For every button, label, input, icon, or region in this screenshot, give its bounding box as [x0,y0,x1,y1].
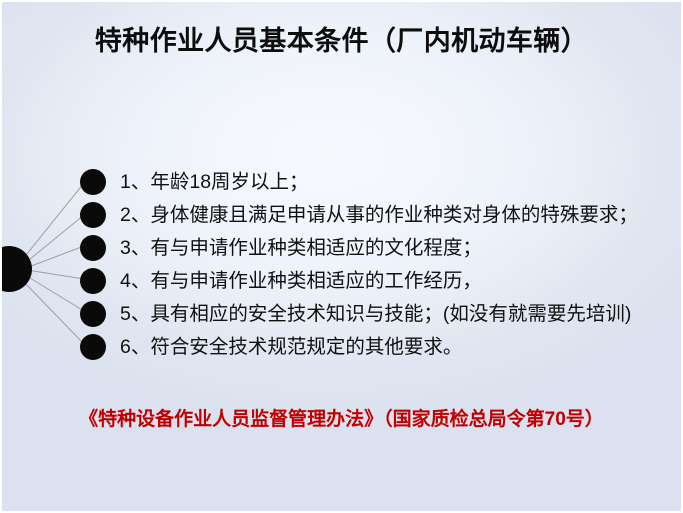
list-item-label: 1、年龄18周岁以上； [120,169,309,195]
connector-line-5 [25,275,84,311]
bullet-dot-icon [80,235,106,261]
page-title: 特种作业人员基本条件（厂内机动车辆） [2,23,681,59]
connector-line-2 [24,215,84,264]
bullet-dot-icon [80,268,106,294]
source-reference-text: 《特种设备作业人员监督管理办法》（国家质检总局令第70号） [2,406,681,434]
connector-line-3 [26,246,84,268]
list-item-label: 6、符合安全技术规范规定的其他要求。 [120,334,462,360]
hub-node [2,246,32,292]
bullet-dot-icon [80,202,106,228]
list-item: 3、有与申请作业种类相适应的文化程度； [80,233,482,263]
slide-canvas: 特种作业人员基本条件（厂内机动车辆） 1、年龄18周岁以上； 2、身体健康且满足… [2,2,681,511]
list-item-label: 3、有与申请作业种类相适应的文化程度； [120,235,482,261]
bullet-dot-icon [80,301,106,327]
list-item: 5、具有相应的安全技术知识与技能；(如没有就需要先培训) [80,299,631,329]
connector-line-6 [22,280,84,344]
list-item: 6、符合安全技术规范规定的其他要求。 [80,332,462,362]
list-item-label: 2、身体健康且满足申请从事的作业种类对身体的特殊要求； [120,202,638,228]
bullet-dot-icon [80,334,106,360]
connector-line-4 [27,270,84,279]
list-item-label: 4、有与申请作业种类相适应的工作经历， [120,268,482,294]
list-item: 1、年龄18周岁以上； [80,167,309,197]
list-item-label: 5、具有相应的安全技术知识与技能；(如没有就需要先培训) [120,301,631,327]
bullet-dot-icon [80,169,106,195]
connector-line-1 [22,183,84,260]
list-item: 2、身体健康且满足申请从事的作业种类对身体的特殊要求； [80,200,638,230]
list-item: 4、有与申请作业种类相适应的工作经历， [80,266,482,296]
